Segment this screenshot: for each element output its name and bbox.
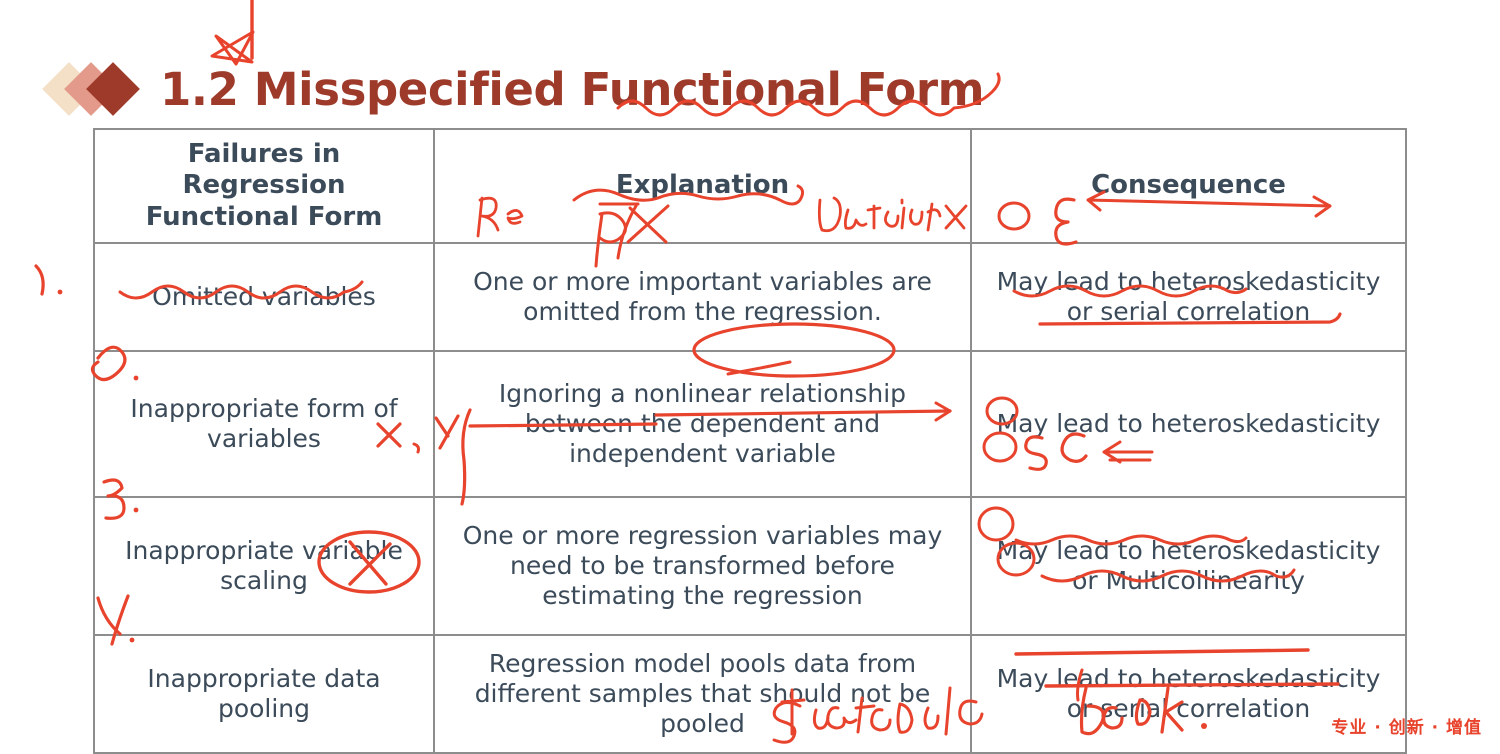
table-row: Inappropriate data pooling Regression mo… <box>94 635 1406 753</box>
table-row: Omitted variables One or more important … <box>94 243 1406 351</box>
footer-brand-text: 专业 · 创新 · 增值 <box>1331 713 1482 738</box>
cell-consequence: May lead to heteroskedasticity or Multic… <box>971 497 1406 635</box>
cell-explanation: One or more important variables are omit… <box>434 243 971 351</box>
cell-consequence: May lead to heteroskedasticity or serial… <box>971 243 1406 351</box>
table-header-row: Failures in Regression Functional Form E… <box>94 129 1406 243</box>
cell-failure: Inappropriate form of variables <box>94 351 434 497</box>
cell-failure: Omitted variables <box>94 243 434 351</box>
ink-margin-dot-1 <box>58 290 63 295</box>
cell-explanation: One or more regression variables may nee… <box>434 497 971 635</box>
cell-failure: Inappropriate data pooling <box>94 635 434 753</box>
triple-diamond-logo <box>50 63 150 115</box>
slide-title-row: 1.2 Misspecified Functional Form <box>50 58 984 120</box>
cell-failure: Inappropriate variable scaling <box>94 497 434 635</box>
header-line: Regression <box>103 170 425 201</box>
column-header-failures: Failures in Regression Functional Form <box>94 129 434 243</box>
header-line: Failures in <box>103 139 425 170</box>
cell-explanation: Ignoring a nonlinear relationship betwee… <box>434 351 971 497</box>
page-title: 1.2 Misspecified Functional Form <box>160 63 984 116</box>
ink-margin-number-1 <box>36 266 43 294</box>
failures-table: Failures in Regression Functional Form E… <box>93 128 1407 754</box>
column-header-explanation: Explanation <box>434 129 971 243</box>
table-row: Inappropriate variable scaling One or mo… <box>94 497 1406 635</box>
column-header-consequence: Consequence <box>971 129 1406 243</box>
table-row: Inappropriate form of variables Ignoring… <box>94 351 1406 497</box>
header-line: Functional Form <box>103 202 425 233</box>
cell-consequence: May lead to heteroskedasticity <box>971 351 1406 497</box>
cell-explanation: Regression model pools data from differe… <box>434 635 971 753</box>
